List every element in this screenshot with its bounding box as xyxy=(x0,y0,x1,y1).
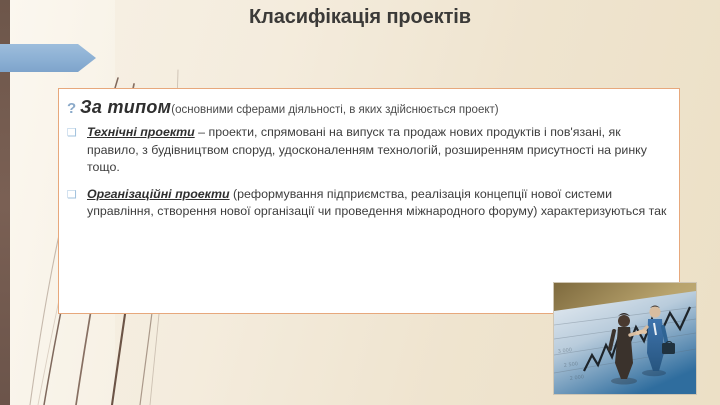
list-item-text: Технічні проекти – проекти, спрямовані н… xyxy=(87,124,669,177)
blue-arrow-banner xyxy=(0,42,97,74)
level1-parenthetical: (основними сферами діяльності, в яких зд… xyxy=(171,104,498,116)
page-title: Класифікація проектів xyxy=(60,6,660,29)
list-item-text: Організаційні проекти (реформування підп… xyxy=(87,186,669,221)
handshake-photo-image: 3 000 2 500 2 000 xyxy=(554,283,696,394)
content-inner: ? За типом(основними сферами діяльності,… xyxy=(67,97,669,230)
list-item-term: Технічні проекти xyxy=(87,125,195,139)
content-box: ? За типом(основними сферами діяльності,… xyxy=(58,88,680,314)
question-bullet-icon: ? xyxy=(67,101,80,116)
presentation-slide: Класифікація проектів ? За типом(основни… xyxy=(0,0,720,405)
level1-heading: За типом xyxy=(80,97,171,117)
list-item-level1: ? За типом(основними сферами діяльності,… xyxy=(67,97,669,118)
list-item: ❑ Технічні проекти – проекти, спрямовані… xyxy=(67,124,669,177)
list-item: ❑ Організаційні проекти (реформування пі… xyxy=(67,186,669,221)
level1-text: За типом(основними сферами діяльності, в… xyxy=(80,97,669,118)
handshake-photo: 3 000 2 500 2 000 xyxy=(553,282,697,395)
square-bullet-icon: ❑ xyxy=(67,124,87,141)
list-item-term: Організаційні проекти xyxy=(87,187,230,201)
square-bullet-icon: ❑ xyxy=(67,186,87,203)
